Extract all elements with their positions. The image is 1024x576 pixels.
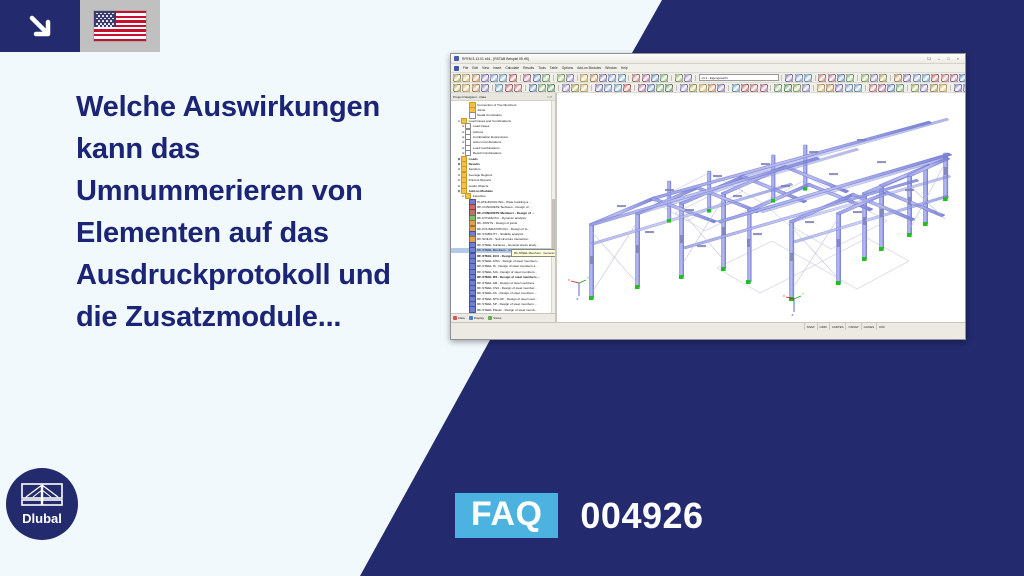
svg-text:X: X — [568, 278, 570, 282]
toolbar-button[interactable] — [793, 84, 801, 92]
nav-tab-display[interactable]: Display — [469, 316, 484, 320]
tree-item-label: Results — [469, 162, 480, 166]
menu-item-calculate[interactable]: Calculate — [505, 66, 519, 70]
app-icon — [454, 56, 459, 61]
tree-item-label: Action Combinations — [473, 140, 501, 144]
toolbar-button[interactable] — [529, 84, 537, 92]
display-icon — [469, 316, 473, 320]
toolbar-separator — [813, 85, 814, 91]
toolbar-separator — [890, 75, 891, 81]
maximize-button[interactable]: □ — [947, 57, 949, 61]
toolbar-button[interactable] — [656, 84, 664, 92]
window-controls[interactable]: ☐ – □ × — [927, 57, 962, 61]
close-button[interactable]: × — [957, 57, 959, 61]
navigator-tabs[interactable]: Data Display Views — [451, 313, 555, 322]
toolbar-button[interactable] — [894, 74, 902, 82]
menu-bar[interactable]: FileEditViewInsertCalculateResultsToolsT… — [451, 64, 965, 73]
tree-item-label: Loads — [469, 157, 478, 161]
navigator-close-icon[interactable]: □× — [547, 95, 553, 99]
tree-item-label: RF-STEEL CSA - Design of steel member... — [477, 286, 537, 290]
svg-text:Y: Y — [802, 292, 804, 296]
toolbar-button[interactable] — [651, 74, 659, 82]
tree-item-label: RF-JOINTS - Design of joints — [477, 221, 517, 225]
menu-item-tools[interactable]: Tools — [538, 66, 546, 70]
restore-button[interactable]: ☐ — [927, 57, 931, 61]
navigator-title-bar: Project Navigator - Data □× — [451, 93, 555, 101]
title-bar: RFEM 5.13.01 x64 - [RSTAB Beispiel 05.rf… — [451, 54, 965, 64]
toolbar-button[interactable] — [887, 84, 895, 92]
minimize-button[interactable]: – — [938, 57, 940, 61]
tree-item-label: RF-FOUNDATION Pro - Design of fo... — [477, 227, 530, 231]
toolbar-separator — [577, 75, 578, 81]
toolbar-button[interactable] — [795, 74, 803, 82]
toolbar-button[interactable] — [817, 84, 825, 92]
window-title: RFEM 5.13.01 x64 - [RSTAB Beispiel 05.rf… — [462, 57, 529, 61]
svg-text:X: X — [783, 294, 785, 298]
toolbar-button[interactable] — [618, 74, 626, 82]
tree-item-label: Average Regions — [469, 173, 493, 177]
menu-item-results[interactable]: Results — [523, 66, 534, 70]
tree-item-label: RF-CONCRETE Members - Design of ... — [477, 211, 534, 215]
tree-item-label: RF-STEEL GB - Design of steel members — [477, 281, 534, 285]
nav-tab-label: Display — [474, 316, 484, 320]
toolbar-button[interactable] — [623, 84, 631, 92]
toolbar-button[interactable] — [453, 84, 461, 92]
toolbar-button[interactable] — [903, 74, 911, 82]
document-icon — [454, 66, 459, 71]
toolbar-button[interactable] — [599, 74, 607, 82]
menu-item-add-on-modules[interactable]: Add-on Modules — [577, 66, 601, 70]
toolbar-separator — [520, 75, 521, 81]
toolbar-button[interactable] — [941, 74, 949, 82]
toolbar-separator — [628, 75, 629, 81]
arrow-down-right-icon — [0, 0, 80, 52]
menu-item-file[interactable]: File — [463, 66, 468, 70]
toolbar-button[interactable] — [911, 84, 919, 92]
toolbar-separator — [857, 75, 858, 81]
toolbar-button[interactable] — [547, 84, 555, 92]
toolbar-button[interactable] — [760, 84, 768, 92]
project-navigator[interactable]: Project Navigator - Data □× Connection o… — [451, 93, 556, 322]
toolbar-button[interactable] — [680, 84, 688, 92]
tree-item-label: Combination Expressions — [473, 135, 508, 139]
tree-item-label: RF-STEEL AISC - Design of steel members.… — [477, 259, 539, 263]
svg-text:Y: Y — [587, 276, 589, 280]
views-icon — [488, 316, 492, 320]
toolbar-button[interactable] — [869, 84, 877, 92]
toolbar-separator — [525, 85, 526, 91]
status-cell-glines[interactable]: GLINES — [861, 323, 877, 330]
toolbar-button[interactable] — [913, 74, 921, 82]
flag-canton — [94, 11, 116, 27]
toolbar-button[interactable] — [595, 84, 603, 92]
toolbar-button[interactable] — [675, 74, 683, 82]
toolbar-button[interactable] — [950, 74, 958, 82]
nav-tab-views[interactable]: Views — [488, 316, 501, 320]
toolbar-button[interactable] — [557, 74, 565, 82]
menu-item-window[interactable]: Window — [605, 66, 617, 70]
tree-item-label: RF-STEEL AS - Design of steel members ..… — [477, 291, 537, 295]
logo-wordmark: Dlubal — [22, 512, 62, 525]
rfem-application-window[interactable]: RFEM 5.13.01 x64 - [RSTAB Beispiel 05.rf… — [450, 53, 966, 340]
toolbar-button[interactable] — [930, 84, 938, 92]
nav-tab-label: Data — [458, 316, 465, 320]
tree-item-label: Printout Reports — [469, 178, 491, 182]
status-cell-snap[interactable]: SNAP — [804, 323, 817, 330]
toolbar-button[interactable] — [566, 74, 574, 82]
tree-item-label: RF-STEEL NTC-DF - Design of steel mem... — [477, 297, 538, 301]
toolbar-button[interactable] — [732, 84, 740, 92]
doc-icon — [469, 112, 476, 118]
toolbar-button[interactable] — [614, 84, 622, 92]
tree-item-label: Add-on Modules — [469, 189, 493, 193]
navigator-tree[interactable]: Connection of Two MembersJointsNodal Con… — [451, 101, 555, 313]
tree-item-label: Load Cases and Combinations — [469, 119, 511, 123]
menu-item-view[interactable]: View — [482, 66, 489, 70]
navigator-title: Project Navigator - Data — [453, 95, 486, 99]
toolbar-button[interactable] — [804, 74, 812, 82]
tree-item-label: Joints — [477, 108, 485, 112]
page-title: Welche Auswirkungen kann das Umnummerier… — [76, 86, 426, 338]
toolbar-button[interactable] — [879, 74, 887, 82]
flag-graphic — [94, 11, 146, 41]
toolbar-button[interactable] — [505, 84, 513, 92]
toolbar-button[interactable] — [826, 84, 834, 92]
toolbar-button[interactable] — [861, 74, 869, 82]
tree-item-label: RF-STEEL SIA - Design of steel members..… — [477, 270, 537, 274]
tree-item-label: RF-STEEL Plastic - Design of steel memb.… — [477, 308, 537, 312]
faq-badge: FAQ — [455, 493, 558, 538]
tree-item-label: Favorites — [473, 194, 486, 198]
toolbar-button[interactable] — [699, 84, 707, 92]
toolbar-button[interactable] — [818, 74, 826, 82]
toolbar-button[interactable] — [708, 84, 716, 92]
toolbar-button[interactable] — [632, 74, 640, 82]
toolbar-button[interactable] — [784, 84, 792, 92]
toolbar-button[interactable] — [580, 84, 588, 92]
toolbar-separator — [728, 85, 729, 91]
toolbar-button[interactable] — [896, 84, 904, 92]
tree-item-label: RF-SOILIN - Soil structure interaction — [477, 237, 528, 241]
toolbar-button[interactable] — [931, 74, 939, 82]
toolbar-button[interactable] — [514, 84, 522, 92]
toolbar-button[interactable] — [490, 74, 498, 82]
menu-item-insert[interactable]: Insert — [493, 66, 501, 70]
scrollbar-thumb[interactable] — [552, 199, 556, 254]
tree-item-label: PLATE-BUCKLING - Plate buckling a... — [477, 200, 531, 204]
tree-item-label: RF-STEEL IS - Design of steel members a.… — [477, 264, 538, 268]
tree-item-label: RF-DYNAM Pro - Dynamic analysis — [477, 216, 526, 220]
svg-text:Z: Z — [792, 313, 794, 317]
truss-frame-icon — [21, 483, 63, 509]
tree-item-label: RF-STEEL Surfaces - General stress analy… — [477, 243, 538, 247]
status-cell-cartes[interactable]: CARTES — [829, 323, 846, 330]
toolbar-button[interactable] — [939, 84, 947, 92]
toolbar-button[interactable] — [802, 84, 810, 92]
toolbar-button[interactable] — [828, 74, 836, 82]
tree-item-label: Connection of Two Members — [477, 103, 516, 107]
nav-tab-label: Views — [493, 316, 501, 320]
toolbar-button[interactable] — [922, 74, 930, 82]
faq-row: FAQ 004926 — [455, 493, 704, 538]
toolbar-button[interactable] — [604, 84, 612, 92]
tree-item-label: RF-STEEL SP - Design of steel members ..… — [477, 302, 537, 306]
toolbar-button[interactable] — [689, 84, 697, 92]
toolbar-button[interactable] — [846, 74, 854, 82]
toolbar-separator — [950, 85, 951, 91]
tree-item-label: RF-CONCRETE Surfaces - Design of ... — [477, 205, 532, 209]
status-bar[interactable]: SNAPGRIDCARTESOSNAPGLINESDXF — [451, 322, 965, 330]
toolbar-button[interactable] — [835, 84, 843, 92]
nav-tab-data[interactable]: Data — [453, 316, 465, 320]
load-case-combo[interactable]: LC1 - Eigengewicht — [699, 74, 779, 82]
toolbar-button[interactable] — [638, 84, 646, 92]
toolbar-button[interactable] — [870, 74, 878, 82]
toolbar-separator — [492, 85, 493, 91]
status-cells[interactable]: SNAPGRIDCARTESOSNAPGLINESDXF — [804, 323, 887, 330]
toolbar-separator — [770, 85, 771, 91]
toolbar-button[interactable] — [741, 84, 749, 92]
toolbar-primary[interactable]: LC1 - Eigengewicht — [451, 73, 965, 83]
navigator-scrollbar[interactable] — [551, 101, 556, 313]
toolbar-button[interactable] — [647, 84, 655, 92]
toolbar-button[interactable] — [533, 74, 541, 82]
toolbar-button[interactable] — [538, 84, 546, 92]
axis-triad-global: X Y Z — [568, 276, 589, 301]
tree-item-label: Load Cases — [473, 124, 490, 128]
toolbar-separator — [781, 75, 782, 81]
toolbar-button[interactable] — [878, 84, 886, 92]
toolbar-button[interactable] — [580, 74, 588, 82]
status-cell-osnap[interactable]: OSNAP — [845, 323, 860, 330]
toolbar-button[interactable] — [562, 84, 570, 92]
toolbar-button[interactable] — [845, 84, 853, 92]
toolbar-button[interactable] — [571, 84, 579, 92]
svg-text:Z: Z — [577, 297, 579, 301]
toolbar-button[interactable] — [481, 84, 489, 92]
mod-icon — [469, 312, 476, 313]
work-area: Project Navigator - Data □× Connection o… — [451, 93, 965, 322]
toolbar-separator — [591, 85, 592, 91]
tree-item-label: Result Combinations — [473, 151, 502, 155]
toolbar-separator — [553, 75, 554, 81]
toolbar-separator — [695, 75, 696, 81]
toolbar-button[interactable] — [665, 84, 673, 92]
toolbar-button[interactable] — [453, 74, 461, 82]
toolbar-button[interactable] — [608, 74, 616, 82]
toolbar-button[interactable] — [660, 74, 668, 82]
toolbar-button[interactable] — [472, 74, 480, 82]
status-cell-dxf[interactable]: DXF — [876, 323, 887, 330]
toolbar-button[interactable] — [774, 84, 782, 92]
toolbar-button[interactable] — [837, 74, 845, 82]
toolbar-separator — [815, 75, 816, 81]
tree-item-label: Nodal Constraints — [477, 113, 502, 117]
toolbar-button[interactable] — [954, 84, 962, 92]
toolbar-button[interactable] — [462, 84, 470, 92]
toolbar-button[interactable] — [920, 84, 928, 92]
toolbar-button[interactable] — [854, 84, 862, 92]
menu-item-edit[interactable]: Edit — [472, 66, 478, 70]
tree-item-label: Actions — [473, 130, 483, 134]
status-cell-grid[interactable]: GRID — [817, 323, 829, 330]
model-viewport[interactable]: X Y Z X Y Z — [556, 93, 965, 322]
toolbar-button[interactable] — [590, 74, 598, 82]
data-icon — [453, 316, 457, 320]
faq-number: 004926 — [580, 498, 703, 534]
toolbar-separator — [865, 85, 866, 91]
tree-item-label: Guide Objects — [469, 184, 489, 188]
dlubal-logo: Dlubal — [6, 468, 78, 540]
toolbar-separator — [907, 85, 908, 91]
toolbar-button[interactable] — [684, 74, 692, 82]
tree-item[interactable]: RF-STEEL SANS - Design of steel membe... — [451, 312, 555, 313]
us-flag-icon — [80, 0, 160, 52]
tree-item-label: RF-STEEL BS - Design of steel members ..… — [477, 275, 540, 279]
toolbar-button[interactable] — [750, 84, 758, 92]
tree-item-label: RF-STABILITY - Stability analysis — [477, 232, 523, 236]
tree-item-label: Sections — [469, 167, 481, 171]
toolbar-button[interactable] — [542, 74, 550, 82]
toolbar-separator — [676, 85, 677, 91]
toolbar-button[interactable] — [717, 84, 725, 92]
menu-item-options[interactable]: Options — [562, 66, 573, 70]
toolbar-secondary[interactable] — [451, 83, 965, 93]
menu-item-help[interactable]: Help — [621, 66, 628, 70]
toolbar-button[interactable] — [785, 74, 793, 82]
menu-item-table[interactable]: Table — [550, 66, 558, 70]
toolbar-separator — [558, 85, 559, 91]
tooltip: RF-STEEL Members - General stress analys… — [511, 249, 555, 257]
toolbar-separator — [671, 75, 672, 81]
toolbar-button[interactable] — [462, 74, 470, 82]
toolbar-button[interactable] — [523, 74, 531, 82]
toolbar-button[interactable] — [959, 74, 966, 82]
toolbar-button[interactable] — [963, 84, 966, 92]
toolbar-button[interactable] — [642, 74, 650, 82]
toolbar-separator — [634, 85, 635, 91]
toolbar-button[interactable] — [495, 84, 503, 92]
toolbar-button[interactable] — [499, 74, 507, 82]
tree-item-label: Load Combinations — [473, 146, 500, 150]
toolbar-button[interactable] — [481, 74, 489, 82]
toolbar-button[interactable] — [472, 84, 480, 92]
toolbar-button[interactable] — [509, 74, 517, 82]
